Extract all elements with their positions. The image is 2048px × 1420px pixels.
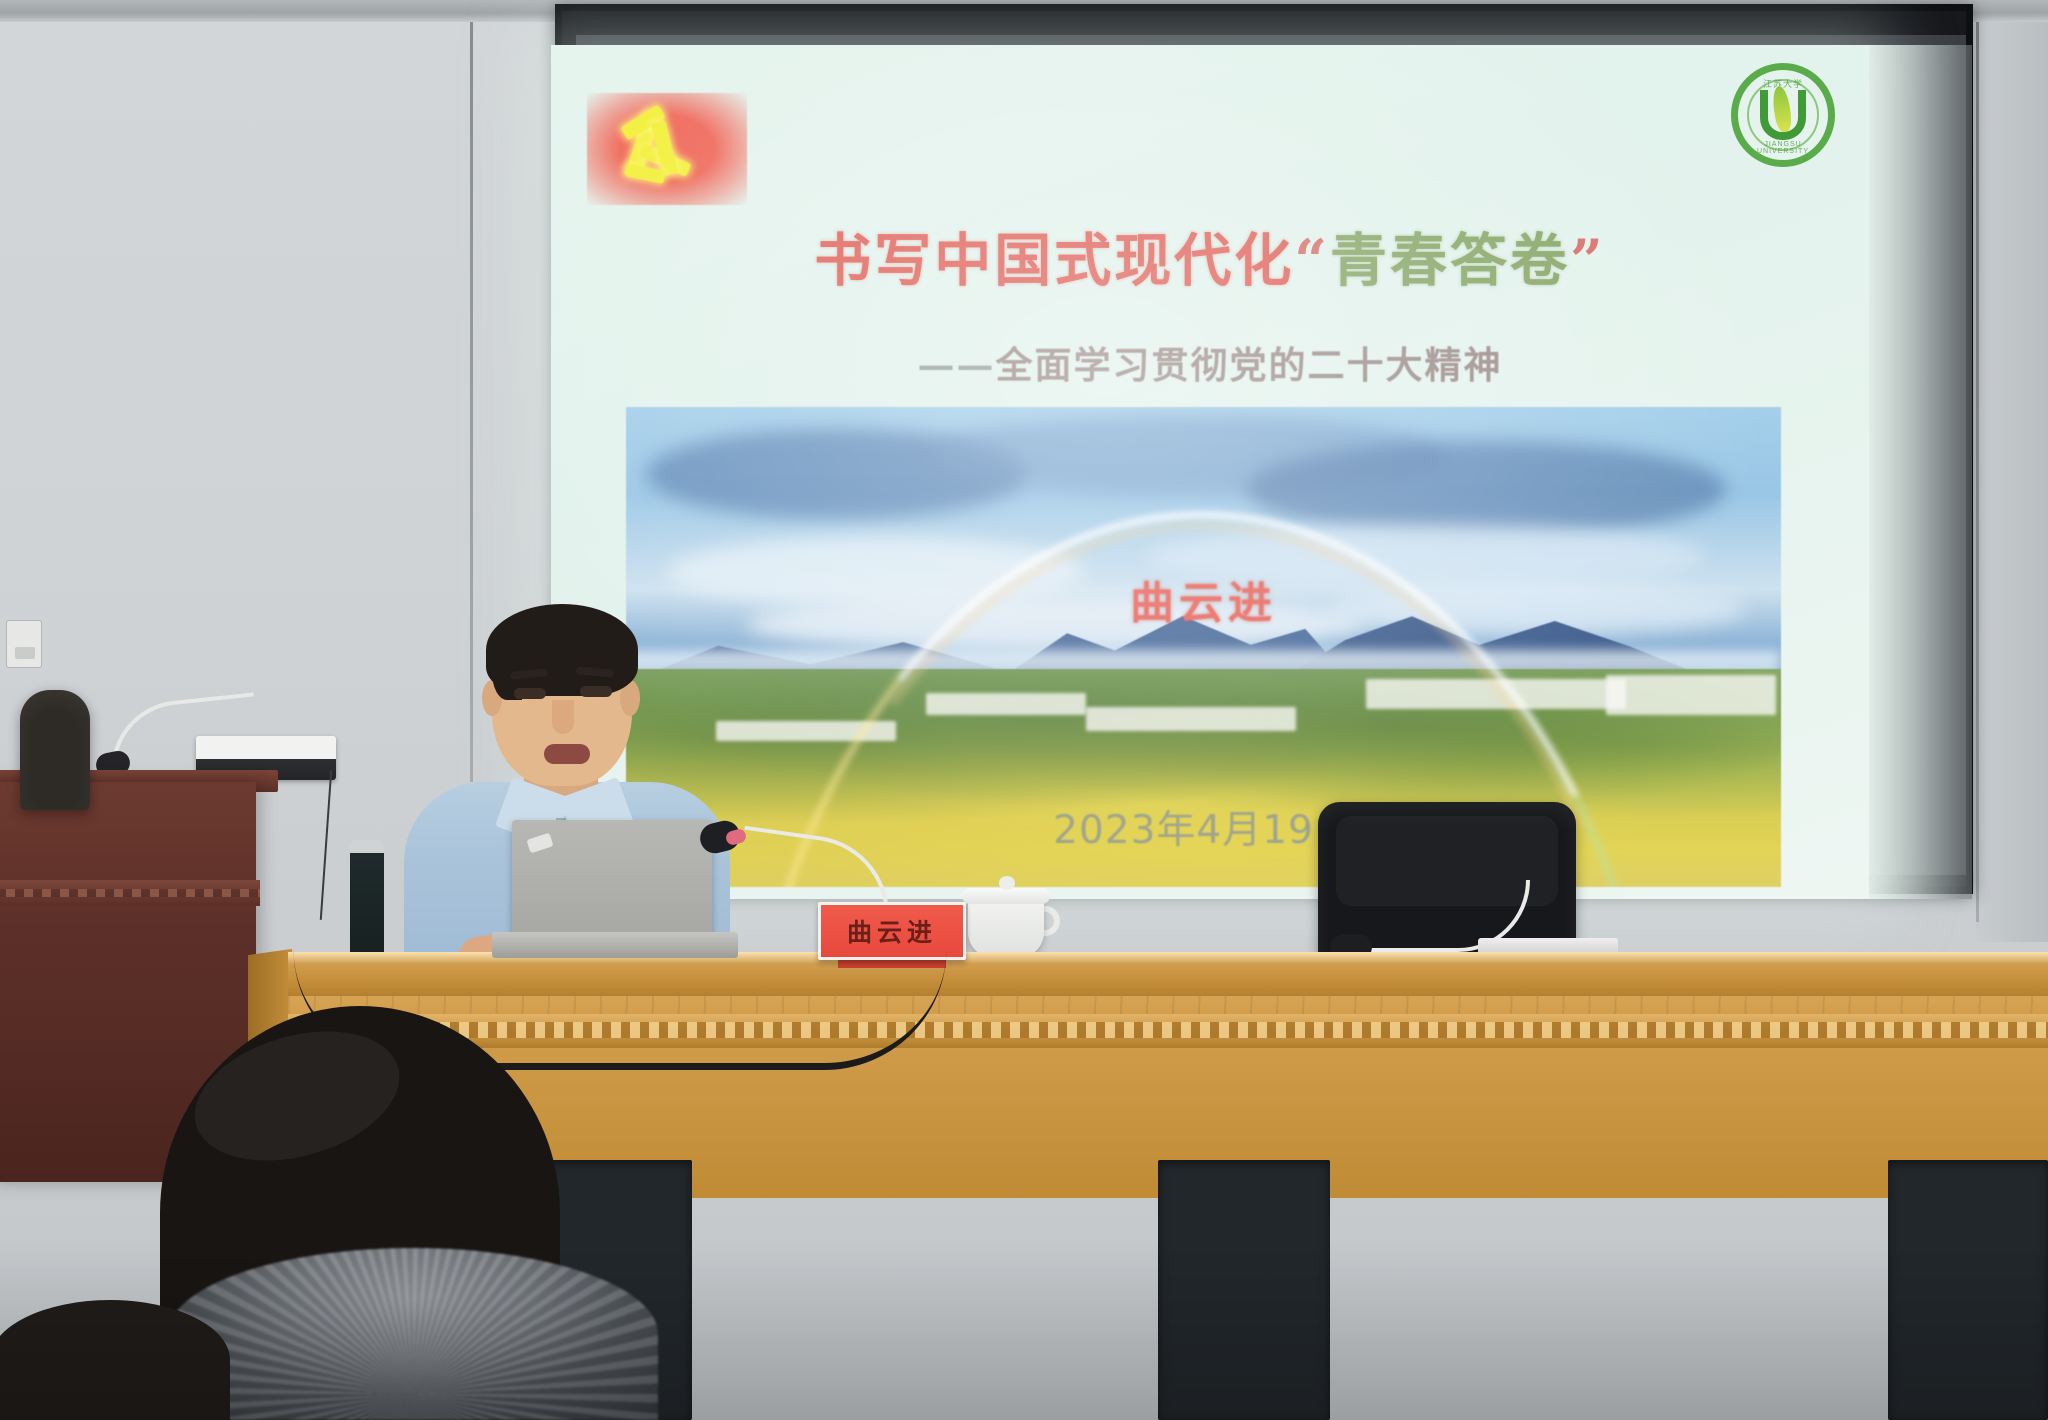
slide-subtitle: ——全面学习贯彻党的二十大精神 — [551, 335, 1869, 389]
slide-subtitle-text: 全面学习贯彻党的二十大精神 — [996, 343, 1503, 387]
wall-outlet — [6, 620, 42, 668]
slide-subtitle-dash: —— — [918, 343, 996, 387]
slide-title-part2: 青春答卷 — [1330, 227, 1570, 294]
wall-seam-right — [1976, 22, 1979, 922]
slide-title: 书写中国式现代化“青春答卷” — [551, 215, 1869, 297]
cpc-party-emblem — [587, 93, 747, 205]
audience-fur-collar — [168, 1248, 658, 1420]
teacup-knob — [999, 876, 1015, 890]
table-panel-center — [1158, 1160, 1330, 1420]
jiangsu-university-logo: 江苏大学 JIANGSU UNIVERSITY — [1731, 63, 1835, 167]
audience-member-second — [0, 1300, 230, 1420]
teacup — [968, 896, 1044, 958]
teacup-lid — [962, 888, 1050, 904]
table-panel-right — [1888, 1160, 2048, 1420]
lecture-room-photo: 江苏大学 JIANGSU UNIVERSITY 书写中国式现代化“青春答卷” —… — [0, 0, 2048, 1420]
slide-title-quote-open: “ — [1294, 227, 1330, 294]
slide-title-quote-close: ” — [1570, 227, 1606, 294]
laptop-screen-back — [512, 820, 712, 938]
screen-light-bleed — [1866, 45, 1972, 899]
presenter-hair — [486, 604, 638, 696]
podium-molding — [0, 880, 260, 906]
nameplate-label: 曲云进 — [847, 913, 937, 949]
projection-screen-surface: 江苏大学 JIANGSU UNIVERSITY 书写中国式现代化“青春答卷” —… — [576, 35, 1966, 875]
vacuum-flask — [350, 840, 384, 968]
logo-u-monogram — [1760, 90, 1806, 140]
presenter-eye-right — [580, 686, 612, 697]
hammer-sickle-icon — [617, 109, 695, 189]
presenter-mouth — [544, 744, 590, 764]
presenter-eye-left — [514, 688, 546, 699]
slide-landscape-photo: 曲云进 2023年4月19日 — [626, 407, 1781, 887]
projection-screen-frame: 江苏大学 JIANGSU UNIVERSITY 书写中国式现代化“青春答卷” —… — [555, 4, 1973, 894]
chair-left-partial — [20, 690, 90, 810]
photo-city-b — [1606, 675, 1776, 715]
presentation-slide: 江苏大学 JIANGSU UNIVERSITY 书写中国式现代化“青春答卷” —… — [551, 45, 1869, 899]
presenter-nose — [552, 700, 574, 734]
slide-title-part1: 书写中国式现代化 — [814, 227, 1294, 294]
logo-text-english: JIANGSU UNIVERSITY — [1738, 141, 1828, 155]
slide-speaker-name: 曲云进 — [626, 567, 1781, 631]
wall-column-right — [1976, 22, 2048, 942]
